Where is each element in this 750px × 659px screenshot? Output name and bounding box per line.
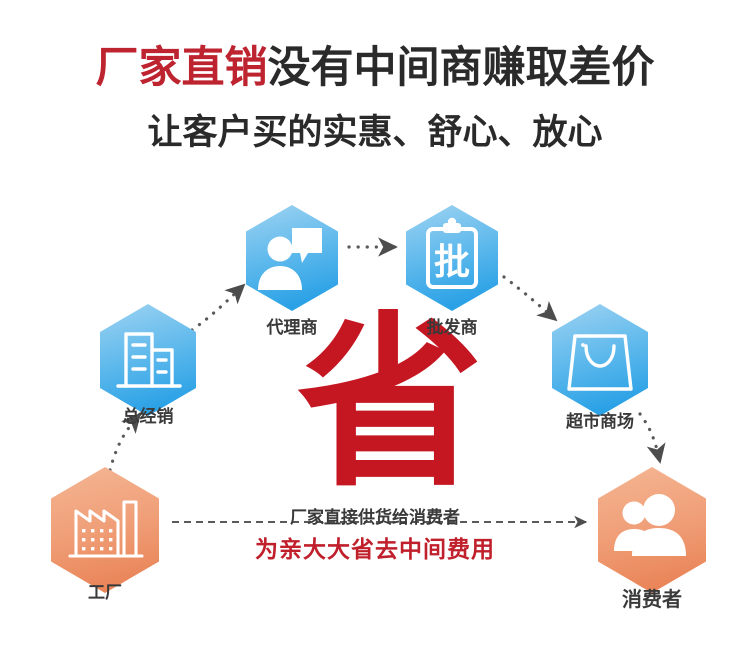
node-distributor[interactable] xyxy=(100,304,196,416)
bypass-caption-bottom: 为亲大大省去中间费用 xyxy=(0,530,750,564)
node-label-agent: 代理商 xyxy=(267,313,318,338)
bypass-caption-top: 厂家直接供货给消费者 xyxy=(0,503,750,528)
connector-distributor-to-agent xyxy=(192,285,244,330)
node-wholesaler[interactable]: 批 xyxy=(406,205,498,311)
node-label-factory: 工厂 xyxy=(88,578,122,603)
node-label-consumer: 消费者 xyxy=(622,583,682,612)
supply-chain-diagram: 批 xyxy=(0,0,750,659)
supermarket-hexagon xyxy=(552,304,648,416)
connector-supermarket-to-consumer xyxy=(640,414,660,462)
node-label-distributor: 总经销 xyxy=(123,402,174,427)
node-agent[interactable] xyxy=(246,205,338,311)
connector-wholesaler-to-supermarket xyxy=(504,277,556,320)
distributor-hexagon xyxy=(100,304,196,416)
node-supermarket[interactable] xyxy=(552,304,648,416)
infographic-canvas: 厂家直销没有中间商赚取差价 让客户买的实惠、舒心、放心 xyxy=(0,0,750,659)
agent-hexagon xyxy=(246,205,338,311)
node-label-wholesaler: 批发商 xyxy=(427,313,478,338)
clipboard-character: 批 xyxy=(434,241,470,282)
node-label-supermarket: 超市商场 xyxy=(566,407,634,432)
